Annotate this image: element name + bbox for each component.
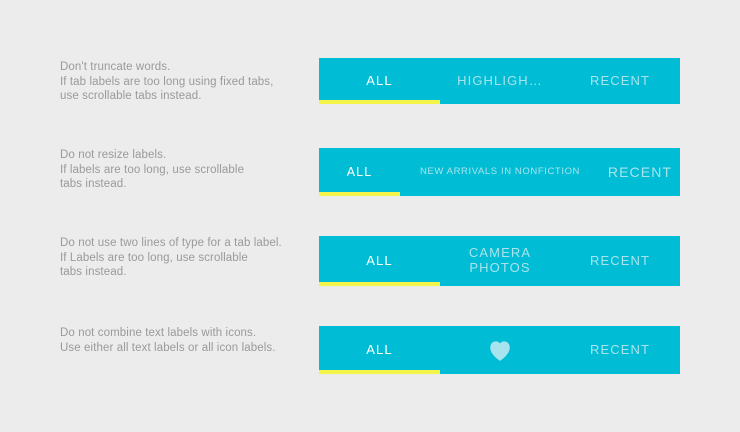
tab-label: RECENT xyxy=(590,343,650,358)
tab-all[interactable]: ALL xyxy=(319,148,400,196)
tab-recent[interactable]: RECENT xyxy=(560,236,680,286)
guideline-caption: Do not resize labels. If labels are too … xyxy=(60,148,310,192)
active-tab-indicator xyxy=(319,192,400,196)
tab-label: RECENT xyxy=(590,254,650,269)
tab-label: ALL xyxy=(366,254,392,269)
tab-camera-photos[interactable]: CAMERA PHOTOS xyxy=(440,236,560,286)
tab-bar[interactable]: ALL RECENT xyxy=(319,326,680,374)
tab-label: RECENT xyxy=(608,164,672,180)
active-tab-indicator xyxy=(319,282,440,286)
heart-icon xyxy=(487,338,513,362)
tab-all[interactable]: ALL xyxy=(319,58,440,104)
tab-label: ALL xyxy=(366,343,392,358)
tab-recent[interactable]: RECENT xyxy=(600,148,680,196)
tab-all[interactable]: ALL xyxy=(319,326,440,374)
tab-recent[interactable]: RECENT xyxy=(560,58,680,104)
tab-label: CAMERA PHOTOS xyxy=(469,246,531,276)
tab-label: RECENT xyxy=(590,74,650,89)
tab-label: ALL xyxy=(347,165,373,179)
tab-bar[interactable]: ALL NEW ARRIVALS IN NONFICTION RECENT xyxy=(319,148,680,196)
tab-new-arrivals-in-nonfiction[interactable]: NEW ARRIVALS IN NONFICTION xyxy=(400,148,600,196)
tab-label: NEW ARRIVALS IN NONFICTION xyxy=(420,167,580,178)
tab-label: ALL xyxy=(366,74,392,89)
guideline-row: Do not use two lines of type for a tab l… xyxy=(0,228,740,300)
tab-bar[interactable]: ALL HIGHLIGH… RECENT xyxy=(319,58,680,104)
dont-guidelines-board: Don't truncate words. If tab labels are … xyxy=(0,0,740,432)
guideline-caption: Do not combine text labels with icons. U… xyxy=(60,326,310,355)
tab-bar[interactable]: ALL CAMERA PHOTOS RECENT xyxy=(319,236,680,286)
tab-highlights[interactable]: HIGHLIGH… xyxy=(440,58,560,104)
guideline-row: Don't truncate words. If tab labels are … xyxy=(0,50,740,120)
active-tab-indicator xyxy=(319,370,440,374)
tab-label: HIGHLIGH… xyxy=(457,74,543,89)
guideline-row: Do not combine text labels with icons. U… xyxy=(0,318,740,384)
active-tab-indicator xyxy=(319,100,440,104)
tab-favorites[interactable] xyxy=(440,326,560,374)
guideline-caption: Do not use two lines of type for a tab l… xyxy=(60,236,310,280)
guideline-caption: Don't truncate words. If tab labels are … xyxy=(60,60,310,104)
tab-all[interactable]: ALL xyxy=(319,236,440,286)
tab-recent[interactable]: RECENT xyxy=(560,326,680,374)
guideline-row: Do not resize labels. If labels are too … xyxy=(0,140,740,210)
